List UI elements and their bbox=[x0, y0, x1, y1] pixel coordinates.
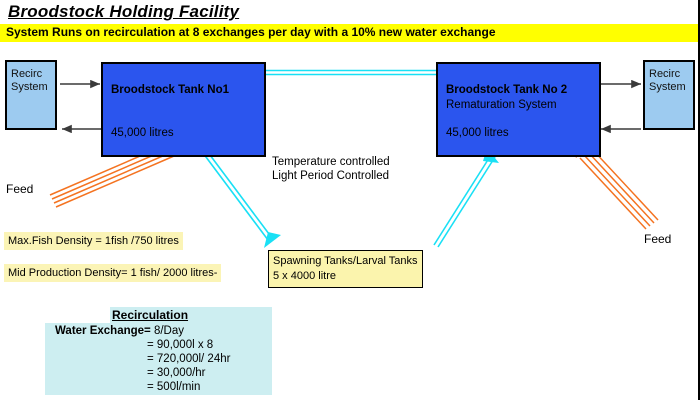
tank2-volume: 45,000 litres bbox=[446, 127, 509, 139]
recirc-calc-value-0: 8/Day bbox=[154, 325, 184, 337]
broodstock-tank-1[interactable]: Broodstock Tank No1 45,000 litres bbox=[101, 62, 266, 157]
recirc-right-line1: Recirc bbox=[649, 68, 693, 81]
recirc-left-line2: System bbox=[11, 81, 55, 94]
recirculation-calc-lines: Water Exchange= 8/Day = 90,000l x 8 = 72… bbox=[55, 324, 230, 394]
subtitle-text: System Runs on recirculation at 8 exchan… bbox=[6, 25, 496, 39]
recirc-calc-line-3: = 30,000/hr bbox=[55, 366, 230, 380]
recirc-calc-line-2: = 720,000l/ 24hr bbox=[55, 352, 230, 366]
control-notes: Temperature controlled Light Period Cont… bbox=[272, 155, 390, 183]
control-note-light: Light Period Controlled bbox=[272, 169, 390, 183]
recirc-calc-label-0: Water Exchange= bbox=[55, 325, 151, 337]
tank1-volume: 45,000 litres bbox=[111, 127, 174, 139]
broodstock-tank-2[interactable]: Broodstock Tank No 2 Rematuration System… bbox=[436, 62, 601, 157]
recirc-calc-line-4: = 500l/min bbox=[55, 380, 230, 394]
tank2-subtitle: Rematuration System bbox=[446, 99, 557, 111]
flow-spawning-to-tank2 bbox=[434, 148, 499, 247]
recirc-right-label: Recirc System bbox=[645, 62, 693, 94]
recirc-right-line2: System bbox=[649, 81, 693, 94]
diagram-canvas: Broodstock Holding Facility System Runs … bbox=[0, 0, 700, 400]
control-note-temperature: Temperature controlled bbox=[272, 155, 390, 169]
recirc-left-label: Recirc System bbox=[7, 62, 55, 94]
recirc-calc-line-0: Water Exchange= 8/Day bbox=[55, 324, 230, 338]
feed-label-right: Feed bbox=[644, 232, 671, 246]
recirc-system-left[interactable]: Recirc System bbox=[5, 60, 57, 130]
tank1-title: Broodstock Tank No1 bbox=[111, 84, 229, 96]
recirculation-title: Recirculation bbox=[112, 308, 188, 322]
feed-label-left: Feed bbox=[6, 182, 33, 196]
page-title: Broodstock Holding Facility bbox=[8, 2, 239, 22]
recirc-system-right[interactable]: Recirc System bbox=[643, 60, 695, 130]
spawning-line1: Spawning Tanks/Larval Tanks bbox=[273, 254, 418, 269]
flow-tank1-to-spawning bbox=[200, 147, 281, 248]
spawning-larval-tanks-box[interactable]: Spawning Tanks/Larval Tanks 5 x 4000 lit… bbox=[268, 250, 423, 288]
spawning-line2: 5 x 4000 litre bbox=[273, 269, 418, 284]
mid-production-density-note: Mid Production Density= 1 fish/ 2000 lit… bbox=[4, 264, 221, 282]
recirc-calc-line-1: = 90,000l x 8 bbox=[55, 338, 230, 352]
recirc-left-line1: Recirc bbox=[11, 68, 55, 81]
max-fish-density-note: Max.Fish Density = 1fish /750 litres bbox=[4, 232, 183, 250]
tank2-title: Broodstock Tank No 2 bbox=[446, 84, 567, 96]
